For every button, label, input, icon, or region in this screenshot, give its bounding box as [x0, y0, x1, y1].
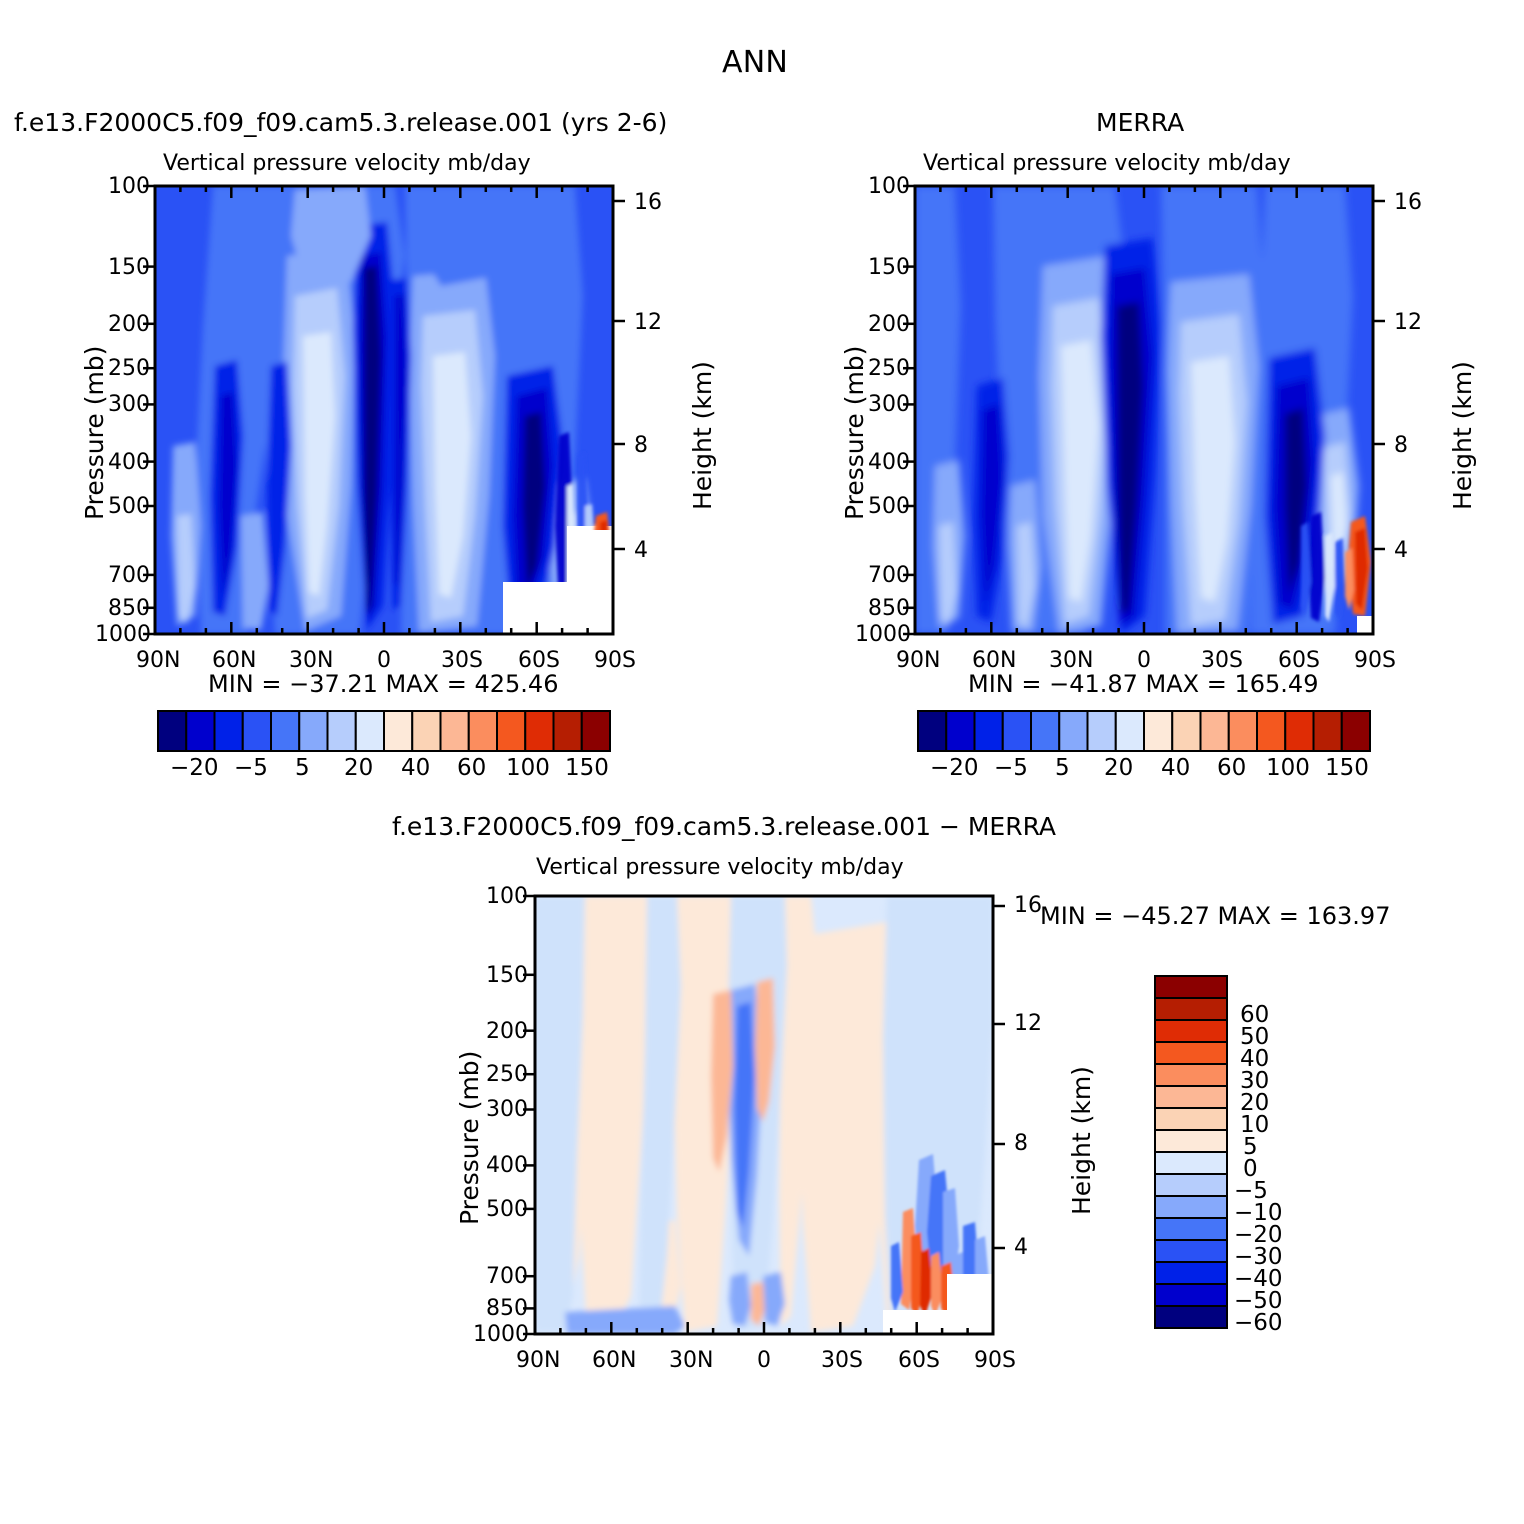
obs-ytick-400: 400 — [868, 450, 910, 475]
obs-ytick-300: 300 — [868, 392, 910, 417]
model-ytick-850: 850 — [108, 596, 150, 621]
obs-xtick-90N: 90N — [896, 648, 940, 673]
diff-y2tick-16: 16 — [1014, 893, 1042, 918]
model-ytick-150: 150 — [108, 255, 150, 280]
obs-field-label: Vertical pressure velocity mb/day — [923, 151, 1291, 176]
model-cb-label-7: 150 — [565, 755, 609, 781]
model-cb-label-2: 5 — [295, 755, 310, 781]
obs-ytick-250: 250 — [868, 356, 910, 381]
model-y2tick-12: 12 — [634, 310, 662, 335]
model-y2tick-8: 8 — [634, 433, 648, 458]
obs-stats: MIN = −41.87 MAX = 165.49 — [968, 670, 1318, 698]
colorbar-cells — [1155, 976, 1227, 1328]
colorbar-cells — [918, 711, 1370, 751]
model-field-label: Vertical pressure velocity mb/day — [163, 151, 531, 176]
model-panel-title: f.e13.F2000C5.f09_f09.cam5.3.release.001… — [14, 108, 667, 137]
diff-ytick-700: 700 — [486, 1264, 528, 1289]
model-y-axis-label: Pressure (mb) — [80, 346, 109, 520]
obs-cb-label-6: 100 — [1266, 755, 1310, 781]
obs-ytick-200: 200 — [868, 312, 910, 337]
obs-xtick-90S: 90S — [1354, 648, 1396, 673]
model-colorbar — [158, 711, 610, 751]
diff-ytick-1000: 1000 — [473, 1322, 529, 1347]
obs-y2tick-12: 12 — [1394, 310, 1422, 335]
obs-ytick-100: 100 — [868, 174, 910, 199]
model-ytick-500: 500 — [108, 494, 150, 519]
diff-y2-axis-label: Height (km) — [1067, 1066, 1096, 1215]
model-ytick-1000: 1000 — [95, 622, 151, 647]
obs-panel-title: MERRA — [1096, 108, 1184, 137]
obs-ytick-500: 500 — [868, 494, 910, 519]
diff-ytick-100: 100 — [486, 884, 528, 909]
model-cb-label-3: 20 — [344, 755, 373, 781]
model-y2tick-4: 4 — [634, 538, 648, 563]
model-xtick-90N: 90N — [136, 648, 180, 673]
obs-cb-label-4: 40 — [1161, 755, 1190, 781]
obs-ytick-1000: 1000 — [855, 622, 911, 647]
diff-ytick-400: 400 — [486, 1153, 528, 1178]
model-ytick-250: 250 — [108, 356, 150, 381]
diff-ytick-150: 150 — [486, 963, 528, 988]
obs-y2tick-16: 16 — [1394, 190, 1422, 215]
obs-colorbar — [918, 711, 1370, 751]
diff-y-axis-label: Pressure (mb) — [455, 1051, 484, 1225]
obs-y-axis-label: Pressure (mb) — [840, 346, 869, 520]
obs-cb-label-1: −5 — [994, 755, 1028, 781]
model-cb-label-0: −20 — [170, 755, 219, 781]
diff-y2tick-12: 12 — [1014, 1011, 1042, 1036]
diff-y2tick-8: 8 — [1014, 1131, 1028, 1156]
obs-y2tick-4: 4 — [1394, 538, 1408, 563]
diff-y2tick-4: 4 — [1014, 1235, 1028, 1260]
diff-xtick-30S: 30S — [821, 1348, 863, 1373]
diff-xtick-90S: 90S — [974, 1348, 1016, 1373]
model-y2-axis-label: Height (km) — [688, 361, 717, 510]
obs-y2tick-8: 8 — [1394, 433, 1408, 458]
model-cb-label-6: 100 — [506, 755, 550, 781]
diff-cb-label-m60: −60 — [1234, 1310, 1283, 1336]
diff-colorbar — [1155, 976, 1227, 1328]
model-stats: MIN = −37.21 MAX = 425.46 — [208, 670, 558, 698]
obs-cb-label-5: 60 — [1217, 755, 1246, 781]
obs-ytick-850: 850 — [868, 596, 910, 621]
diff-panel-title: f.e13.F2000C5.f09_f09.cam5.3.release.001… — [392, 812, 1056, 841]
model-cb-label-5: 60 — [457, 755, 486, 781]
obs-ytick-150: 150 — [868, 255, 910, 280]
diff-ytick-250: 250 — [486, 1062, 528, 1087]
obs-cb-label-2: 5 — [1055, 755, 1070, 781]
model-ytick-300: 300 — [108, 392, 150, 417]
model-xtick-90S: 90S — [594, 648, 636, 673]
page-title: ANN — [722, 45, 788, 80]
obs-cb-label-0: −20 — [930, 755, 979, 781]
model-cb-label-4: 40 — [401, 755, 430, 781]
diff-ytick-850: 850 — [486, 1296, 528, 1321]
obs-cb-label-7: 150 — [1325, 755, 1369, 781]
diff-xtick-90N: 90N — [516, 1348, 560, 1373]
obs-y2-axis-label: Height (km) — [1448, 361, 1477, 510]
obs-ytick-700: 700 — [868, 563, 910, 588]
model-ytick-200: 200 — [108, 312, 150, 337]
diff-stats: MIN = −45.27 MAX = 163.97 — [1040, 902, 1390, 930]
obs-cb-label-3: 20 — [1104, 755, 1133, 781]
diff-xtick-30N: 30N — [669, 1348, 713, 1373]
colorbar-cells — [158, 711, 610, 751]
diff-ytick-300: 300 — [486, 1097, 528, 1122]
diff-ytick-200: 200 — [486, 1019, 528, 1044]
obs-plot — [915, 186, 1373, 634]
diff-field-label: Vertical pressure velocity mb/day — [536, 855, 904, 880]
diff-xtick-60N: 60N — [592, 1348, 636, 1373]
model-y2tick-16: 16 — [634, 190, 662, 215]
model-plot — [155, 186, 613, 634]
model-cb-label-1: −5 — [234, 755, 268, 781]
model-ytick-100: 100 — [108, 174, 150, 199]
diff-ytick-500: 500 — [486, 1197, 528, 1222]
model-ytick-400: 400 — [108, 450, 150, 475]
diff-plot — [535, 896, 993, 1334]
diff-xtick-60S: 60S — [898, 1348, 940, 1373]
model-ytick-700: 700 — [108, 563, 150, 588]
diff-xtick-0: 0 — [757, 1348, 771, 1373]
